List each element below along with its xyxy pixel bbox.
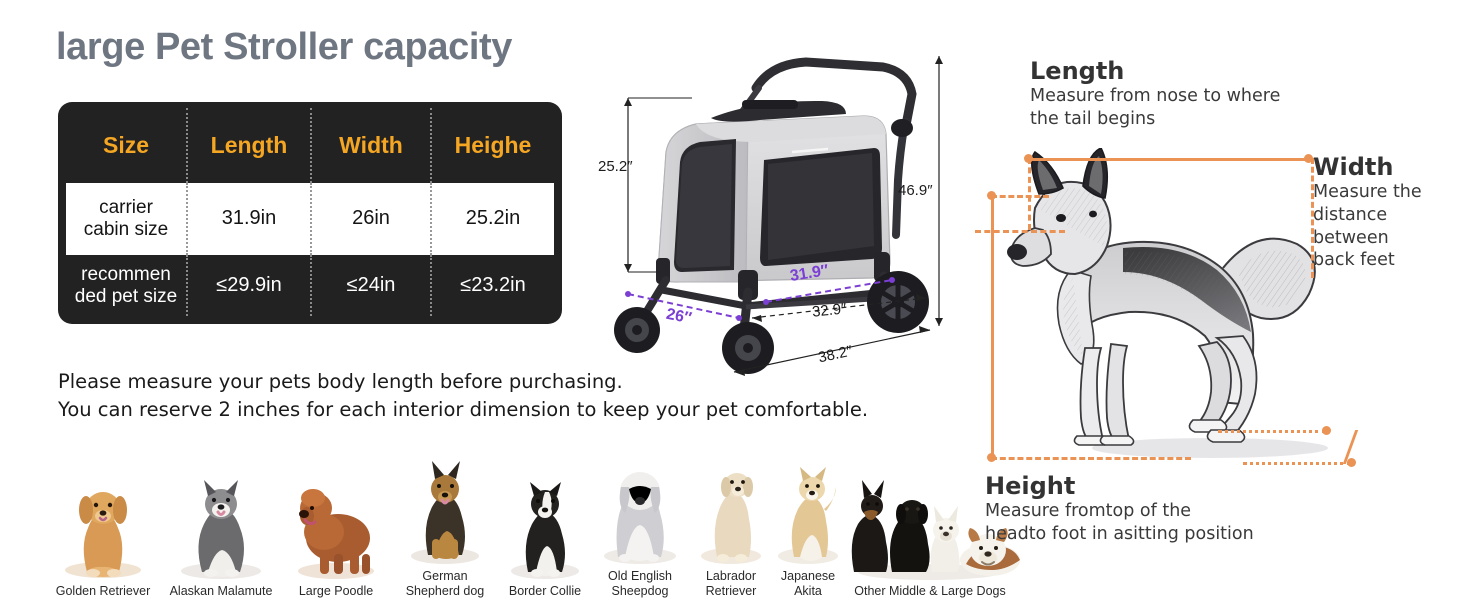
height-desc-line-1: Measure fromtop of the	[985, 500, 1405, 523]
breed-item-border-collie: Border Collie	[492, 472, 598, 600]
table-header-row: Size Length Width Heighe	[66, 108, 554, 183]
breed-label: Alaskan Malamute	[158, 584, 284, 600]
border-collie-photo	[492, 472, 598, 580]
cell-carrier-width: 26in	[312, 183, 432, 256]
dim-wheelbase-depth: 32.9″	[811, 300, 847, 321]
breed-item-old-english-sheepdog: Old English Sheepdog	[585, 457, 695, 600]
stroller-illustration	[596, 30, 964, 380]
width-desc-line-4: back feet	[1313, 249, 1453, 272]
alaskan-malamute-photo	[158, 472, 284, 580]
breed-label: Old English Sheepdog	[585, 569, 695, 600]
width-text-block: Width Measure the distance between back …	[1313, 153, 1453, 272]
length-guide-nose-tick	[975, 230, 1065, 233]
row-label-carrier-cabin-size: carrier cabin size	[66, 183, 188, 256]
height-text-block: Height Measure fromtop of the headto foo…	[985, 472, 1405, 546]
cell-pet-width: ≤24in	[312, 255, 432, 316]
width-desc-line-1: Measure the	[1313, 181, 1453, 204]
row-label-recommended-pet-size: recommen ded pet size	[66, 255, 188, 316]
breed-item-german-shepherd-dog: German Shepherd dog	[392, 457, 498, 600]
golden-retriever-photo	[40, 472, 166, 580]
stroller-diagram: 25.2″ 46.9″ 31.9″ 26″ 32.9″ 38.2″	[596, 30, 964, 380]
measuring-guide-panel: Length Measure from nose to where the ta…	[975, 40, 1464, 600]
table-row: recommen ded pet size ≤29.9in ≤24in ≤23.…	[66, 255, 554, 316]
infographic-page: large Pet Stroller capacity Size Length …	[0, 0, 1464, 600]
table-header-width: Width	[312, 108, 432, 183]
dim-cabin-height: 25.2″	[598, 158, 633, 175]
height-guide-bottom-tick	[991, 457, 1191, 460]
table-header-length: Length	[188, 108, 312, 183]
breed-strip: Golden Retriever Alaskan Malamute	[40, 428, 970, 600]
length-desc-line-2: the tail begins	[1030, 108, 1360, 131]
cell-pet-length: ≤29.9in	[188, 255, 312, 316]
height-desc-line-2: headto foot in asitting position	[985, 523, 1405, 546]
large-poodle-photo	[276, 472, 396, 580]
width-desc-line-2: distance	[1313, 204, 1453, 227]
spec-table: Size Length Width Heighe carrier cabin s…	[58, 102, 562, 324]
note-line-2: You can reserve 2 inches for each interi…	[58, 396, 868, 424]
width-desc-line-3: between	[1313, 227, 1453, 250]
height-guide-bar	[991, 195, 994, 457]
length-text-block: Length Measure from nose to where the ta…	[1030, 57, 1360, 131]
breed-item-large-poodle: Large Poodle	[276, 472, 396, 600]
table-row: carrier cabin size 31.9in 26in 25.2in	[66, 183, 554, 256]
width-description: Measure the distance between back feet	[1313, 181, 1453, 272]
width-guide-upper-foot-line	[1218, 430, 1326, 433]
old-english-sheepdog-photo	[585, 457, 695, 565]
cell-pet-height: ≤23.2in	[432, 255, 554, 316]
length-guide-left-drop	[1028, 158, 1031, 230]
dim-overall-height: 46.9″	[898, 182, 933, 199]
breed-label: Large Poodle	[276, 584, 396, 600]
length-description: Measure from nose to where the tail begi…	[1030, 85, 1360, 131]
breed-label: German Shepherd dog	[392, 569, 498, 600]
breed-label: Border Collie	[492, 584, 598, 600]
table-header-height: Heighe	[432, 108, 554, 183]
breed-item-golden-retriever: Golden Retriever	[40, 472, 166, 600]
height-guide-top-tick	[991, 195, 1049, 198]
cell-carrier-length: 31.9in	[188, 183, 312, 256]
height-description: Measure fromtop of the headto foot in as…	[985, 500, 1405, 546]
width-guide-dot-upper	[1322, 426, 1331, 435]
width-guide-dot-lower	[1347, 458, 1356, 467]
width-heading: Width	[1313, 153, 1453, 181]
breed-item-alaskan-malamute: Alaskan Malamute	[158, 472, 284, 600]
height-heading: Height	[985, 472, 1405, 500]
cell-carrier-height: 25.2in	[432, 183, 554, 256]
length-guide-bar	[1028, 158, 1312, 161]
length-heading: Length	[1030, 57, 1360, 85]
table-header-size: Size	[66, 108, 188, 183]
german-shepherd-photo	[392, 457, 498, 565]
page-title: large Pet Stroller capacity	[56, 26, 512, 69]
length-desc-line-1: Measure from nose to where	[1030, 85, 1360, 108]
breed-label: Golden Retriever	[40, 584, 166, 600]
